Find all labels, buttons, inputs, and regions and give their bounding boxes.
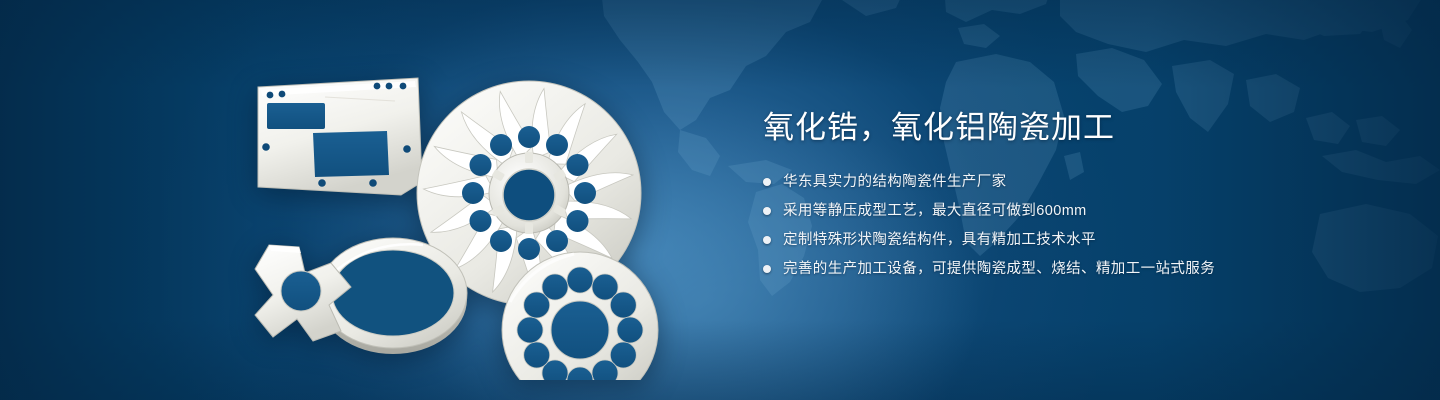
list-item: 定制特殊形状陶瓷结构件，具有精加工技术水平	[763, 230, 1383, 250]
bullet-dot-icon	[763, 236, 771, 244]
ceramic-mounting-plate	[258, 78, 422, 195]
product-photo-cluster	[225, 35, 695, 380]
list-item: 华东具实力的结构陶瓷件生产厂家	[763, 172, 1383, 192]
feature-text: 采用等静压成型工艺，最大直径可做到600mm	[783, 201, 1087, 221]
banner-headline: 氧化锆，氧化铝陶瓷加工	[763, 108, 1383, 148]
feature-text: 完善的生产加工设备，可提供陶瓷成型、烧结、精加工一站式服务	[783, 259, 1215, 279]
list-item: 完善的生产加工设备，可提供陶瓷成型、烧结、精加工一站式服务	[763, 259, 1383, 279]
bullet-dot-icon	[763, 178, 771, 186]
feature-list: 华东具实力的结构陶瓷件生产厂家 采用等静压成型工艺，最大直径可做到600mm 定…	[763, 172, 1383, 279]
copy-block: 氧化锆，氧化铝陶瓷加工 华东具实力的结构陶瓷件生产厂家 采用等静压成型工艺，最大…	[763, 108, 1383, 288]
hero-banner: 氧化锆，氧化铝陶瓷加工 华东具实力的结构陶瓷件生产厂家 采用等静压成型工艺，最大…	[0, 0, 1440, 400]
bullet-dot-icon	[763, 207, 771, 215]
bullet-dot-icon	[763, 265, 771, 273]
list-item: 采用等静压成型工艺，最大直径可做到600mm	[763, 201, 1383, 221]
ceramic-ring	[319, 238, 467, 354]
feature-text: 华东具实力的结构陶瓷件生产厂家	[783, 172, 1007, 192]
feature-text: 定制特殊形状陶瓷结构件，具有精加工技术水平	[783, 230, 1096, 250]
